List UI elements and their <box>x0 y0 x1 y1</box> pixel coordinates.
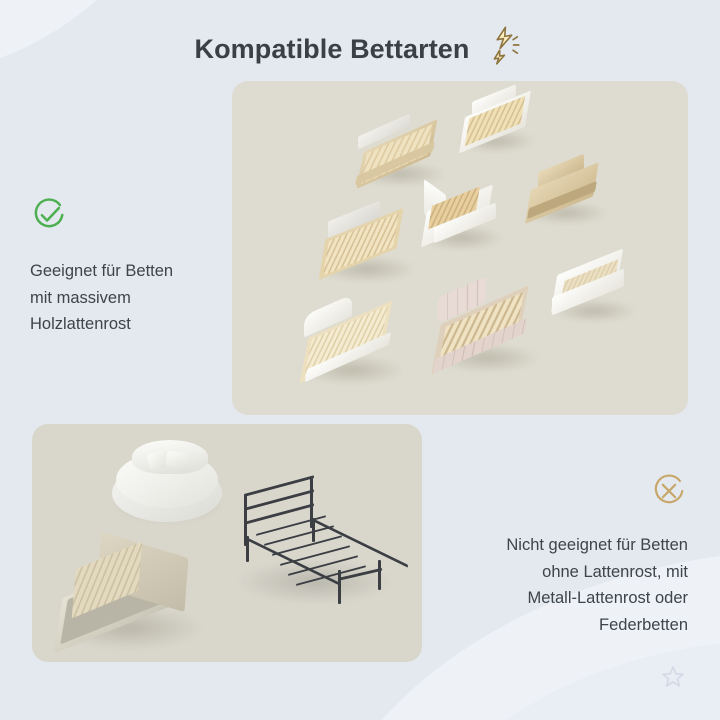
bed-storage-lift-up <box>48 536 208 654</box>
bed-black-metal-frame <box>228 474 400 618</box>
feature-unsuitable-text: Nicht geeignet für Betten ohne Lattenros… <box>438 532 688 639</box>
bed-round-upholstered <box>108 438 226 526</box>
feature-suitable-text: Geeignet für Betten mit massivem Holzlat… <box>30 258 220 338</box>
bed-wood-platform <box>350 123 442 189</box>
bed-scene-compatible <box>232 81 688 415</box>
page-title-row: Kompatible Bettarten <box>0 22 720 76</box>
feature-unsuitable: Nicht geeignet für Betten ohne Lattenros… <box>438 472 688 639</box>
bed-oak-panel <box>522 163 606 225</box>
x-circle-icon <box>650 472 688 510</box>
bed-spindle-headboard <box>294 303 404 385</box>
bed-pink-upholstered <box>428 287 540 373</box>
bed-white-storage-box <box>550 259 636 323</box>
feature-suitable: Geeignet für Betten mit massivem Holzlat… <box>30 196 220 338</box>
bed-white-slatted <box>454 93 534 155</box>
sparkle-lightning-icon <box>480 22 526 68</box>
incompatible-bed-types-photo <box>32 424 422 662</box>
page-title: Kompatible Bettarten <box>194 34 469 65</box>
compatible-bed-types-photo <box>232 81 688 415</box>
bed-scene-incompatible <box>32 424 422 662</box>
bed-upholstered-slats <box>314 211 414 283</box>
check-circle-icon <box>30 196 68 234</box>
star-icon <box>660 664 686 690</box>
bed-white-daybed <box>418 181 502 251</box>
